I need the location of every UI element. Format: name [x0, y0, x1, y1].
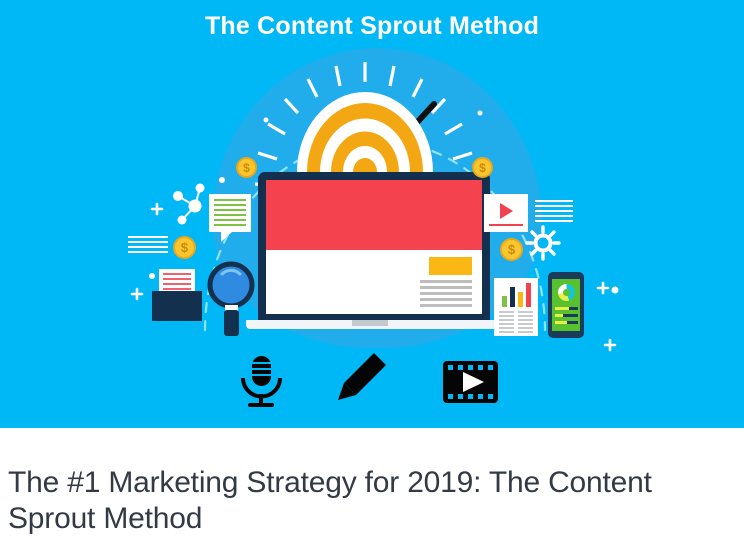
microphone-icon [243, 356, 280, 407]
hero-title: The Content Sprout Method [0, 12, 744, 41]
bottom-icons-row [0, 350, 744, 412]
document-text-lines [499, 311, 533, 335]
text-lines-icon [535, 200, 573, 225]
document-bars [499, 283, 533, 307]
laptop-trackpad [352, 320, 388, 326]
screen-text-lines [420, 280, 472, 310]
article-title[interactable]: The #1 Marketing Strategy for 2019: The … [8, 465, 708, 538]
gear-icon [527, 227, 559, 259]
bar-chart-document-icon [494, 278, 538, 336]
envelope-icon [152, 283, 202, 321]
speech-bubble-icon [209, 194, 251, 232]
coin-icon: $ [236, 157, 257, 178]
screen-header-band [266, 180, 482, 250]
coin-icon: $ [500, 238, 523, 261]
film-strip-icon [443, 361, 498, 403]
article-card: The Content Sprout Method [0, 0, 744, 522]
text-lines-icon [128, 236, 168, 256]
phone-screen [552, 279, 580, 331]
envelope-body [152, 291, 202, 321]
mobile-phone-icon [548, 272, 584, 338]
video-player-icon [484, 194, 528, 232]
pencil-icon [338, 353, 386, 400]
screen-content-area [266, 250, 482, 314]
play-triangle-icon [500, 203, 513, 219]
screen-image-block [429, 257, 472, 275]
donut-chart-icon [558, 284, 575, 301]
share-network-icon [173, 184, 205, 225]
coin-icon: $ [472, 157, 493, 178]
hero-banner-image: The Content Sprout Method [0, 0, 744, 428]
video-progress-bar [489, 224, 523, 226]
coin-icon: $ [173, 236, 196, 259]
laptop-screen [266, 180, 482, 314]
laptop-illustration [258, 172, 490, 322]
